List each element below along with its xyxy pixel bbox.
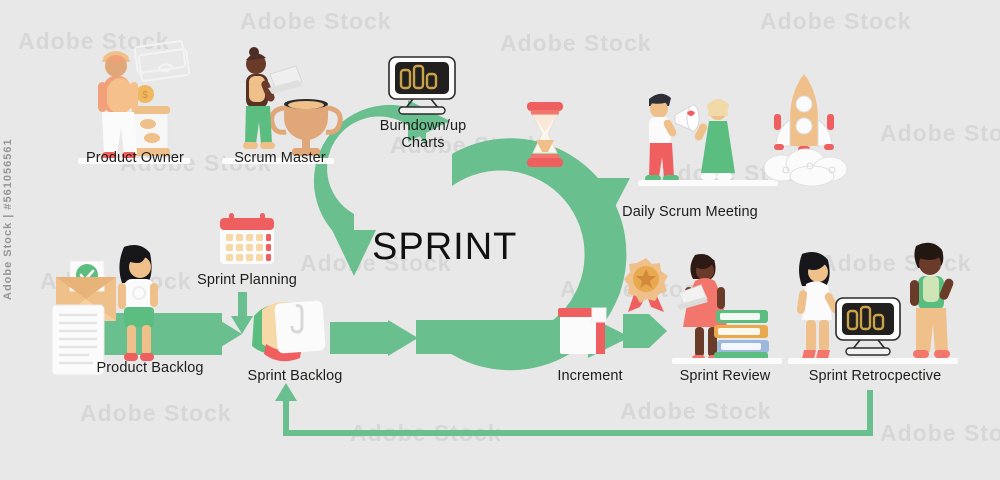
megaphone-icon [675, 105, 699, 131]
watermark-credit: Adobe Stock | #561056561 [2, 138, 14, 300]
increment-icon [556, 300, 620, 360]
sticky-notes-icon [248, 298, 344, 366]
medal-ribbon-icon [622, 256, 678, 314]
rocket-icon [752, 70, 872, 190]
avatar-product-backlog [118, 245, 158, 361]
label-product-owner: Product Owner [60, 150, 210, 166]
label-scrum-master: Scrum Master [205, 150, 355, 166]
avatar-product-owner [98, 51, 138, 159]
watermark-tile: Adobe Stock [80, 400, 232, 427]
label-sprint-planning: Sprint Planning [182, 272, 312, 288]
avatar-retrospective-man [898, 240, 968, 364]
infographic-canvas: Adobe Stock Adobe Stock Adobe Stock Adob… [0, 0, 1000, 480]
laptop-icon [268, 66, 302, 94]
avatar-scrum-master [243, 47, 276, 149]
loop-left-stem [283, 398, 289, 432]
watermark-tile: Adobe Stock [500, 30, 652, 57]
watermark-tile: Adobe Stock [760, 8, 912, 35]
label-sprint-review: Sprint Review [655, 368, 795, 384]
label-burndown-line1: Burndown/up [380, 118, 467, 134]
svg-text:$: $ [142, 90, 148, 101]
watermark-tile: Adobe Stock [880, 120, 1000, 147]
book-stack-icon [712, 308, 772, 364]
product-backlog-illustration [50, 243, 190, 375]
label-daily-scrum: Daily Scrum Meeting [600, 204, 780, 220]
monitor-bar-chart-icon-retro [832, 296, 906, 360]
label-sprint-retrospective: Sprint Retrocpective [790, 368, 960, 384]
product-owner-illustration: $ [78, 36, 198, 166]
banknotes-icon [134, 41, 189, 81]
watermark-tile: Adobe Stock [240, 8, 392, 35]
trophy-icon [272, 99, 341, 156]
label-sprint-backlog: Sprint Backlog [230, 368, 360, 384]
ground-shelf [672, 358, 782, 364]
monitor-bar-chart-icon [383, 55, 461, 117]
planning-arrow-stem [238, 292, 247, 318]
increment-arrow [623, 310, 673, 352]
watermark-tile: Adobe Stock [620, 398, 772, 425]
label-burndown-charts: Burndown/up Charts [365, 118, 481, 152]
scrum-master-illustration [222, 36, 342, 166]
loop-bottom-stem [283, 430, 873, 436]
sprint-center-label: SPRINT [372, 226, 517, 269]
label-increment: Increment [530, 368, 650, 384]
hourglass-icon [523, 100, 567, 172]
ground-shelf [788, 358, 958, 364]
avatar-listener [693, 99, 735, 180]
calendar-icon [216, 212, 278, 268]
loop-arrow-head [275, 383, 297, 401]
label-product-backlog: Product Backlog [50, 360, 250, 376]
watermark-tile: Adobe Stock [880, 420, 1000, 447]
avatar-speaker [645, 94, 679, 182]
label-burndown-line2: Charts [401, 135, 444, 151]
